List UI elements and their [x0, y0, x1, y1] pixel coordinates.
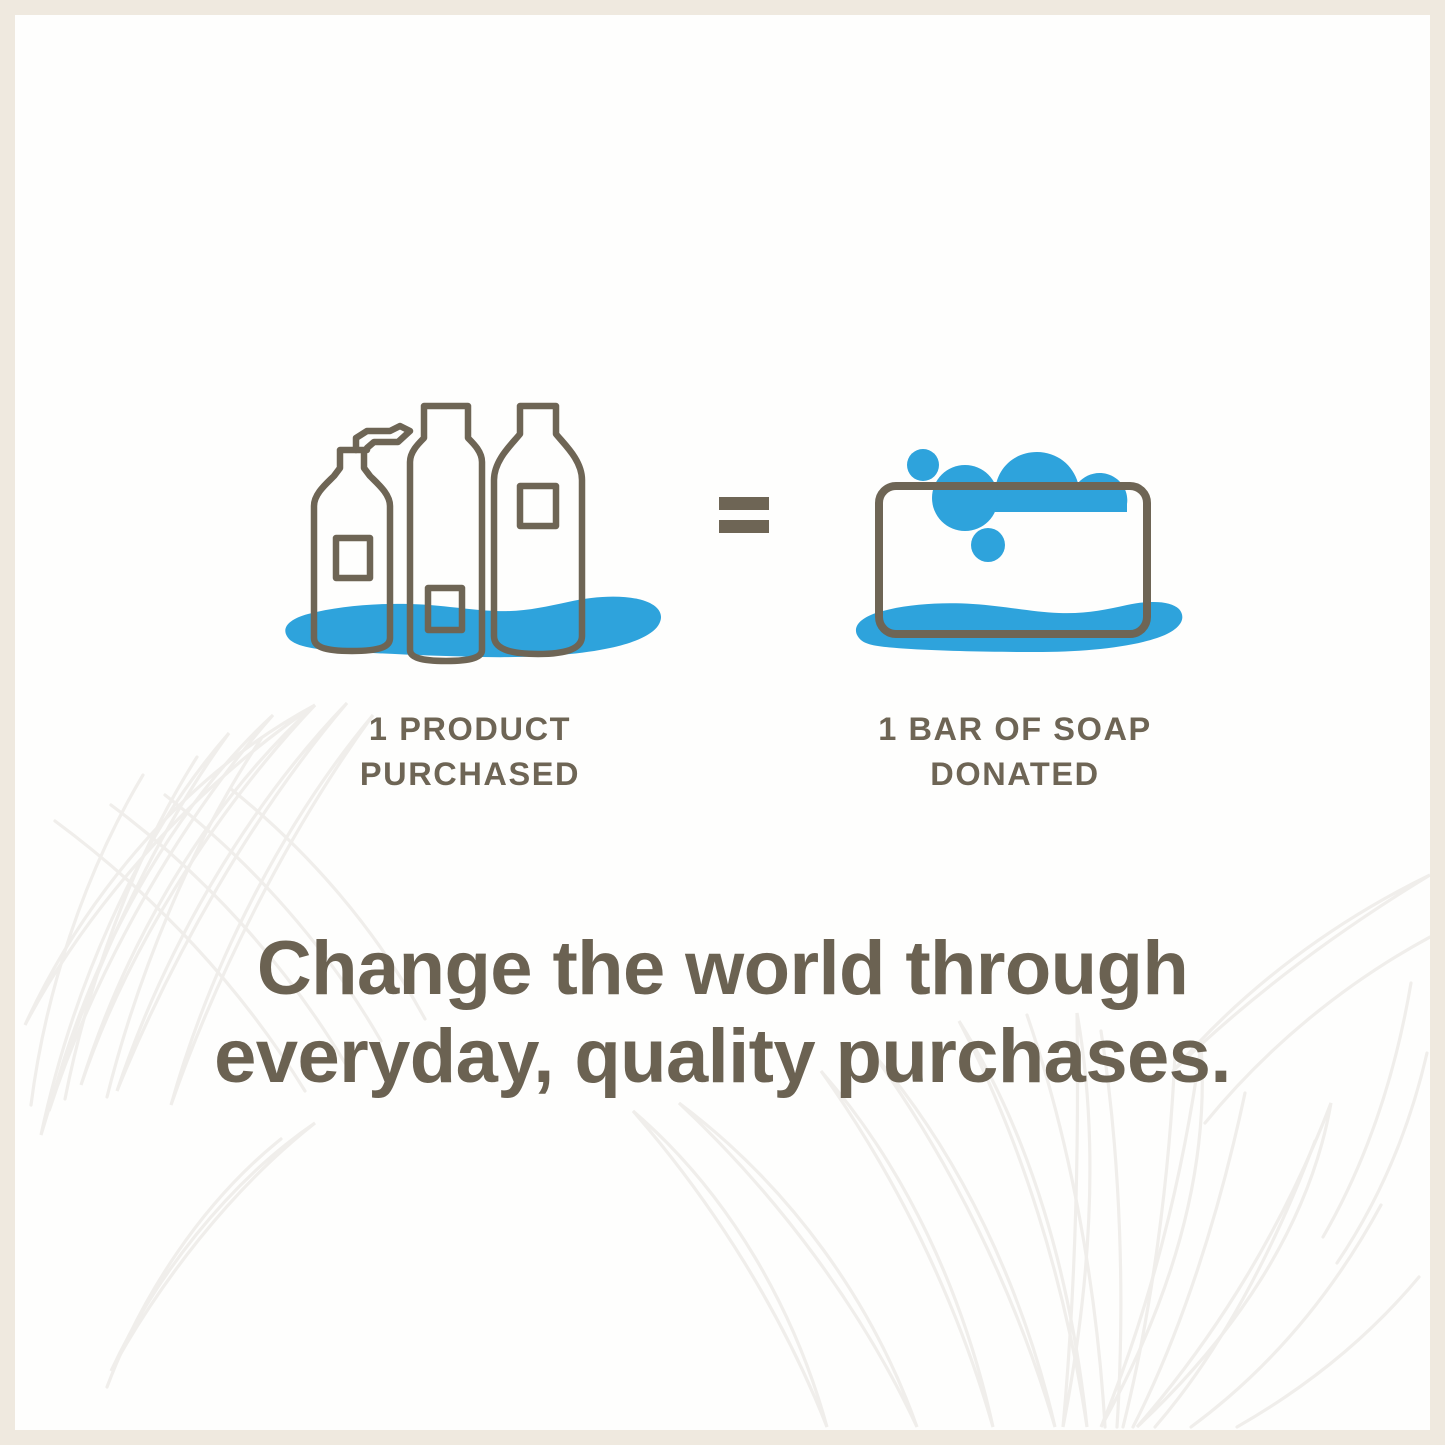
equals-sign-icon: [715, 486, 773, 544]
headline-line: Change the world through: [15, 925, 1430, 1013]
caption-line: 1 PRODUCT: [265, 707, 675, 752]
promise-icon-row: [15, 398, 1430, 698]
caption-line: 1 BAR OF SOAP: [805, 707, 1225, 752]
infographic-panel: 1 PRODUCT PURCHASED 1 BAR OF SOAP DONATE…: [15, 15, 1430, 1430]
caption-line: DONATED: [805, 752, 1225, 797]
three-soap-bottles-in-water-icon: [268, 398, 668, 683]
caption-product-purchased: 1 PRODUCT PURCHASED: [265, 707, 675, 797]
product-promise-infographic: 1 PRODUCT PURCHASED 1 BAR OF SOAP DONATE…: [0, 0, 1445, 1445]
caption-soap-donated: 1 BAR OF SOAP DONATED: [805, 707, 1225, 797]
headline-line: everyday, quality purchases.: [15, 1013, 1430, 1101]
caption-line: PURCHASED: [265, 752, 675, 797]
bar-of-soap-with-bubbles-icon: [845, 426, 1185, 671]
headline: Change the world through everyday, quali…: [15, 925, 1430, 1101]
